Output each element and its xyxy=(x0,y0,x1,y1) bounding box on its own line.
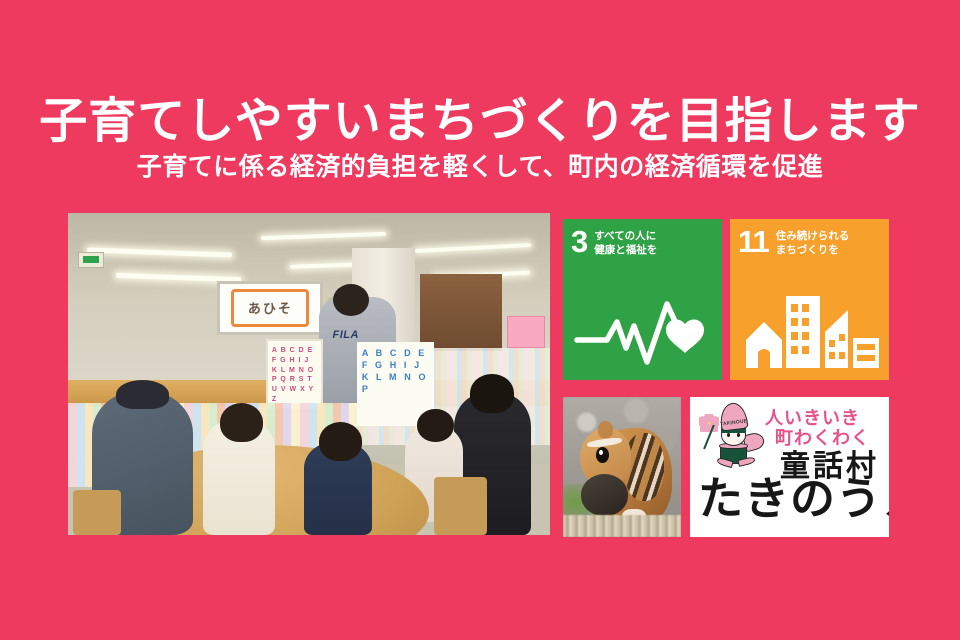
seated-child-two-head xyxy=(319,422,362,461)
seated-woman-head xyxy=(470,374,513,413)
page-title: 子育てしやすいまちづくりを目指します xyxy=(0,96,960,148)
room-sign: あひそ xyxy=(217,281,323,336)
chipmunk-photo xyxy=(563,397,681,537)
nut xyxy=(581,474,628,516)
sdg-3-label: すべての人に 健康と福祉を xyxy=(594,227,657,258)
sdg-11-label-line1: 住み続けられる xyxy=(776,229,850,243)
heartbeat-pulse-heart-icon xyxy=(563,288,722,374)
headline-block: 子育てしやすいまちづくりを目指します 子育てに係る経済的負担を軽くして、町内の経… xyxy=(0,96,960,181)
seated-adult-cap xyxy=(116,380,169,409)
standing-teen-head xyxy=(333,284,369,316)
fairy-mascot-icon: TAKINOUE xyxy=(697,403,775,479)
city-buildings-icon xyxy=(730,288,889,374)
sdg-11-header: 11 住み続けられる まちづくりを xyxy=(738,227,883,258)
gravel-ground xyxy=(563,515,681,537)
room-sign-label: あひそ xyxy=(231,289,309,327)
sdg-3-number: 3 xyxy=(571,227,587,258)
library-photo: あひそ FILA A B C D E F G H I J K L M N O P… xyxy=(68,213,550,535)
door xyxy=(420,274,502,351)
sdg-11-label: 住み続けられる まちづくりを xyxy=(776,227,850,258)
exit-sign-icon xyxy=(78,252,105,268)
abc-poster-text: A B C D E F G H I J K L M N O P xyxy=(362,347,430,421)
mascot-hat xyxy=(719,401,749,431)
pink-notice xyxy=(507,316,546,348)
chipmunk-eye xyxy=(596,447,609,462)
flower-wand-icon xyxy=(699,414,719,432)
takinoue-logo: TAKINOUE 人いきいき 町わくわく 童話村 たきのうえ xyxy=(690,397,889,537)
chair-right xyxy=(434,477,487,535)
hoodie-brand-text: FILA xyxy=(333,329,359,341)
sdg-badge-3: 3 すべての人に 健康と福祉を xyxy=(563,219,722,380)
sdg-3-header: 3 すべての人に 健康と福祉を xyxy=(571,227,716,258)
poster-canvas: 子育てしやすいまちづくりを目指します 子育てに係る経済的負担を軽くして、町内の経… xyxy=(0,0,960,640)
sdg-3-label-line1: すべての人に xyxy=(594,229,657,243)
sdg-11-label-line2: まちづくりを xyxy=(776,243,850,257)
sdg-11-number: 11 xyxy=(738,227,769,258)
seated-child-one-head xyxy=(220,403,263,442)
chipmunk-ear xyxy=(598,421,612,438)
sdg-3-label-line2: 健康と福祉を xyxy=(594,243,657,257)
abc-board: A B C D E F G H I J K L M N O P Q R S T … xyxy=(266,339,324,410)
sdg-badge-11: 11 住み続けられる まちづくりを xyxy=(730,219,889,380)
chair-left xyxy=(73,490,121,535)
logo-town-name: たきのうえ xyxy=(698,476,889,521)
page-subtitle: 子育てに係る経済的負担を軽くして、町内の経済循環を促進 xyxy=(0,154,960,182)
seated-girl-head xyxy=(417,409,453,441)
abc-board-text: A B C D E F G H I J K L M N O P Q R S T … xyxy=(272,346,317,402)
